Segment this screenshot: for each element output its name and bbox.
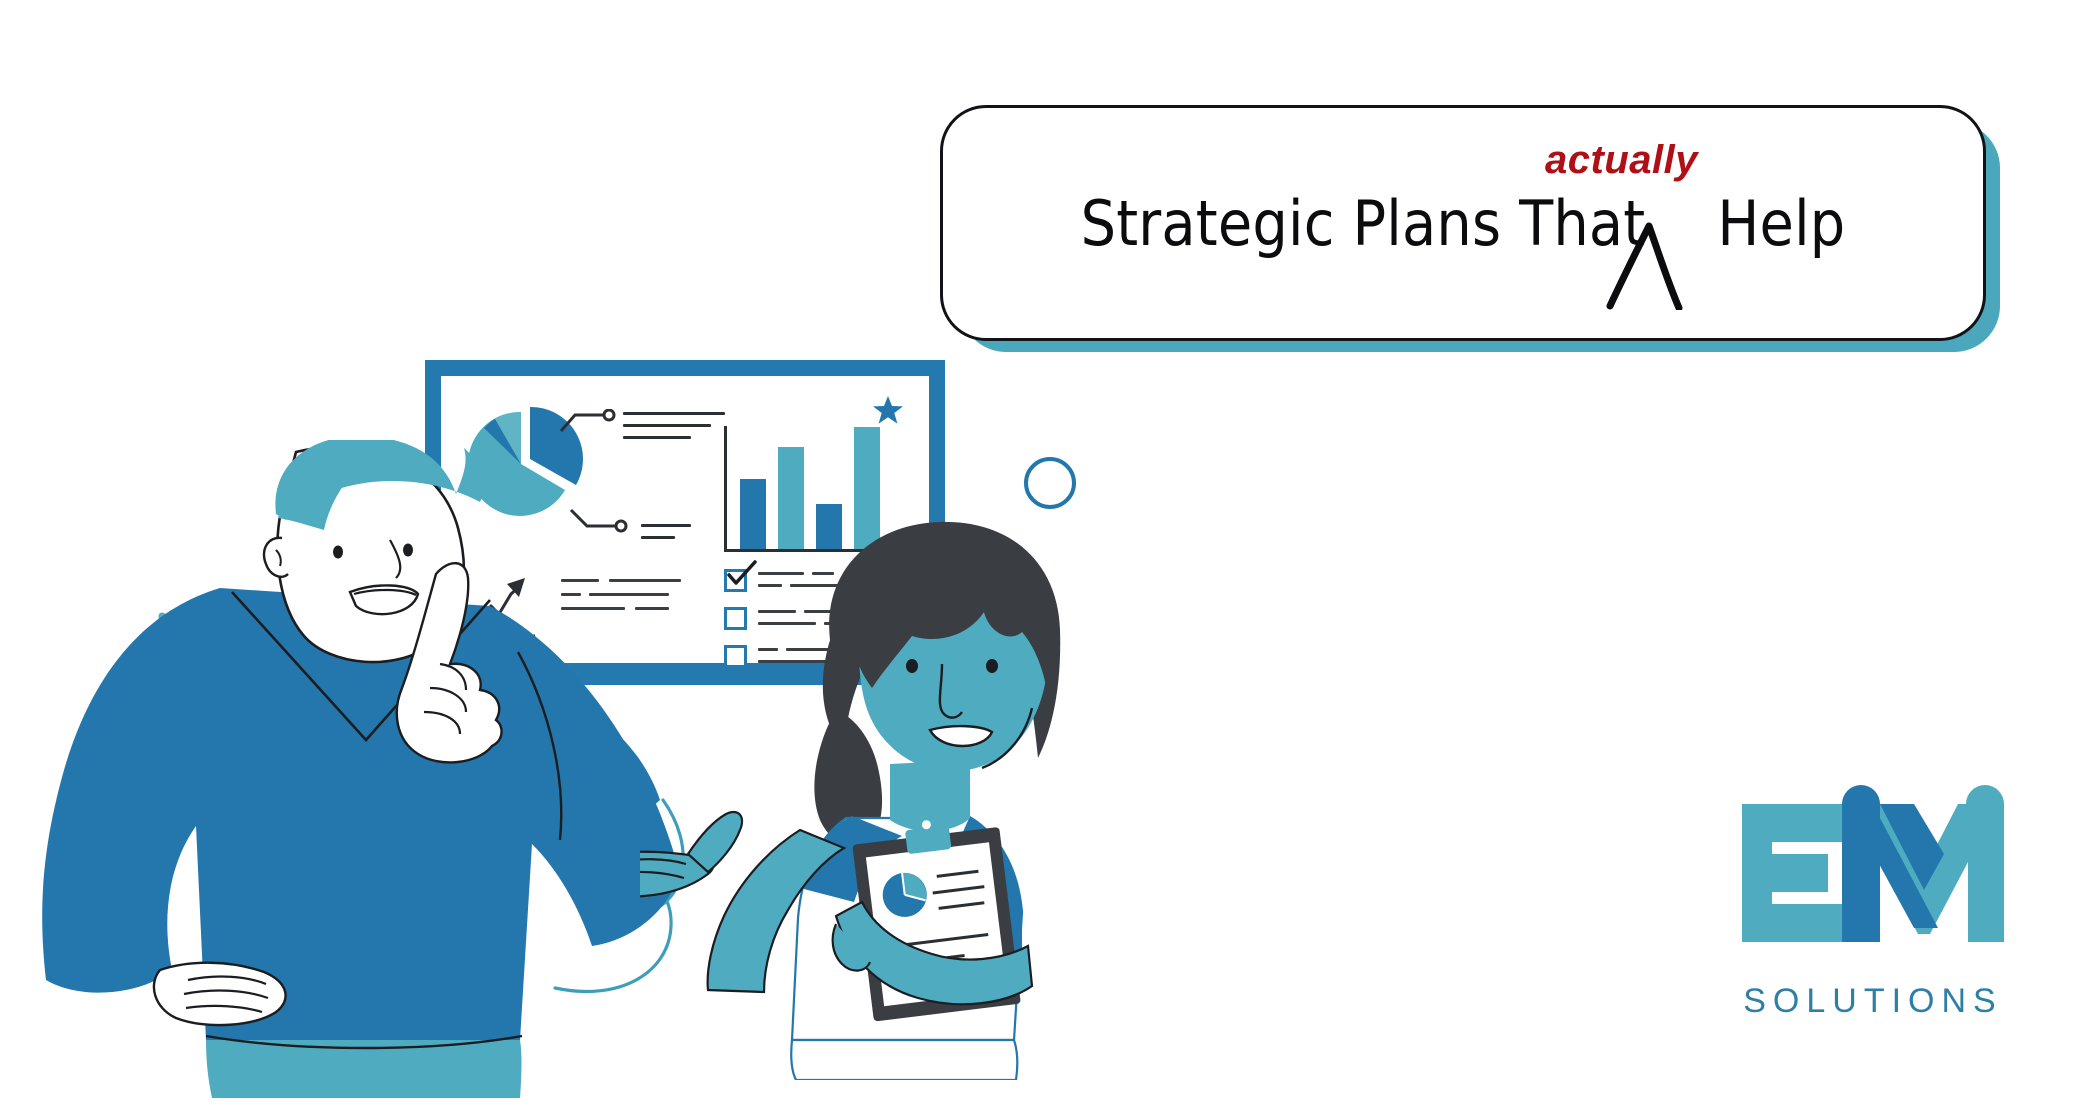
- callout-line: [623, 424, 711, 427]
- headline-after: Help: [1717, 187, 1845, 260]
- clipboard: [850, 806, 1021, 1022]
- circle-outline-decoration: [1022, 455, 1078, 516]
- callout-line: [641, 524, 691, 527]
- checklist-line: [758, 584, 782, 587]
- play-triangle-decoration: [150, 608, 212, 675]
- text-line: [561, 579, 599, 582]
- presentation-whiteboard: [425, 360, 945, 685]
- em-solutions-logo: [1738, 762, 2008, 1002]
- swirl-decoration: [545, 790, 785, 1015]
- bar-1: [740, 479, 766, 549]
- bar-chart: [724, 406, 886, 552]
- pie-callout-bottom: [569, 508, 637, 539]
- bar-2: [778, 447, 804, 549]
- inserted-word-actually: actually: [1545, 138, 1698, 183]
- checklist-line: [844, 648, 882, 651]
- checklist-line: [804, 610, 870, 613]
- bar-4: [854, 427, 880, 549]
- text-line: [609, 579, 681, 582]
- headline-before: Strategic Plans That: [1081, 187, 1646, 260]
- checklist-line: [812, 572, 834, 575]
- checklist-line: [786, 648, 836, 651]
- checkbox-unchecked[interactable]: [724, 645, 747, 668]
- checklist-line: [790, 584, 844, 587]
- callout-line: [641, 536, 675, 539]
- checklist-line: [836, 660, 870, 663]
- checklist-line: [758, 648, 778, 651]
- check-icon: [725, 560, 759, 597]
- poster-canvas: Strategic Plans That Help actually: [0, 0, 2100, 1099]
- checklist-line: [824, 622, 864, 625]
- headline-callout: Strategic Plans That Help: [940, 105, 1986, 341]
- checklist-line: [852, 584, 882, 587]
- headline-text-row: Strategic Plans That Help: [943, 108, 1983, 338]
- line-chart: [459, 566, 539, 649]
- insertion-caret-icon: [1605, 218, 1695, 315]
- bar-3: [816, 504, 842, 549]
- text-line: [561, 593, 581, 596]
- text-line: [635, 607, 669, 610]
- checklist-line: [758, 572, 804, 575]
- star-icon: [872, 394, 904, 431]
- logo-wordmark: SOLUTIONS: [1738, 982, 2008, 1021]
- text-line: [589, 593, 669, 596]
- checklist-line: [758, 610, 796, 613]
- checklist-line: [758, 660, 828, 663]
- checkbox-unchecked[interactable]: [724, 607, 747, 630]
- bar-chart-axis: [724, 549, 886, 552]
- bar-chart-plot: [736, 421, 886, 549]
- pie-callout-top: [559, 409, 619, 438]
- whiteboard-surface: [441, 376, 929, 663]
- text-line: [561, 607, 625, 610]
- callout-line: [623, 436, 691, 439]
- callout-line: [623, 412, 725, 415]
- bar-chart-axis: [724, 426, 727, 552]
- checklist-line: [758, 622, 816, 625]
